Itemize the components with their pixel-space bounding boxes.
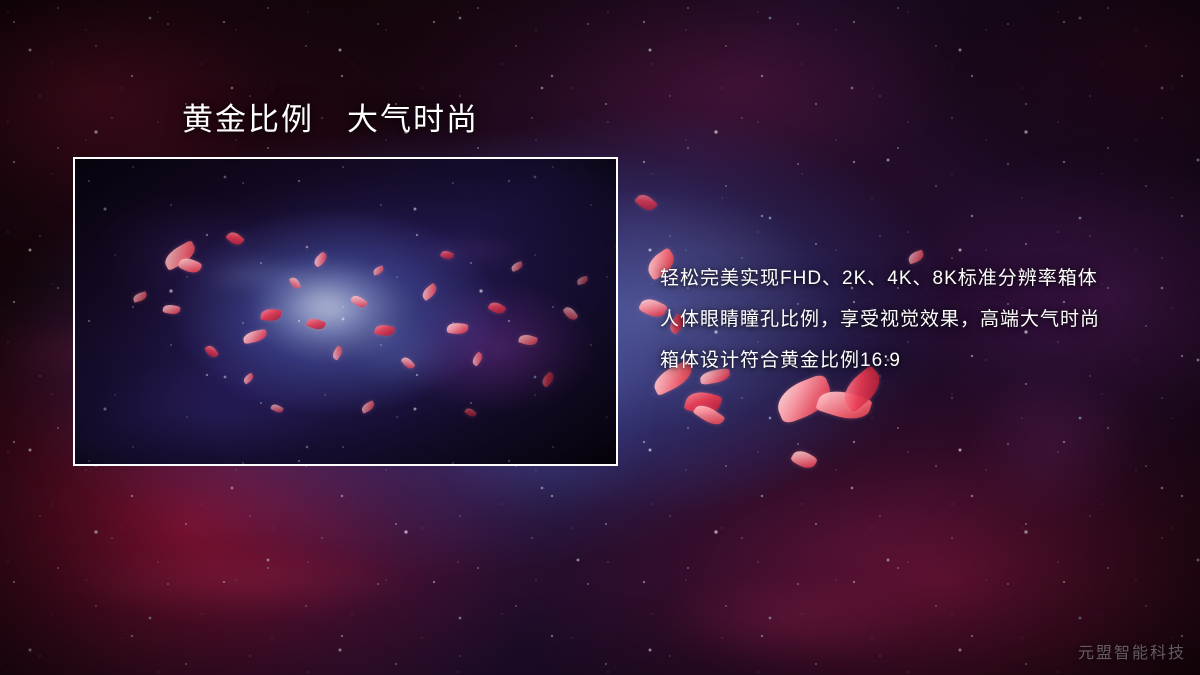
petal-shape bbox=[790, 447, 818, 472]
body-line: 人体眼睛瞳孔比例，享受视觉效果，高端大气时尚 bbox=[660, 299, 1170, 340]
petal-shape bbox=[634, 191, 658, 214]
slide-canvas: 黄金比例 大气时尚 轻松完美实现FHD、2K、4K、8K标准分辨率箱体 人体眼睛… bbox=[0, 0, 1200, 675]
framed-image-panel bbox=[73, 157, 618, 466]
watermark-text: 元盟智能科技 bbox=[1078, 639, 1186, 663]
body-line: 轻松完美实现FHD、2K、4K、8K标准分辨率箱体 bbox=[660, 258, 1170, 299]
panel-vignette bbox=[75, 159, 616, 464]
body-text-block: 轻松完美实现FHD、2K、4K、8K标准分辨率箱体 人体眼睛瞳孔比例，享受视觉效… bbox=[660, 258, 1170, 381]
body-line: 箱体设计符合黄金比例16:9 bbox=[660, 340, 1170, 381]
slide-title: 黄金比例 大气时尚 bbox=[182, 101, 479, 140]
